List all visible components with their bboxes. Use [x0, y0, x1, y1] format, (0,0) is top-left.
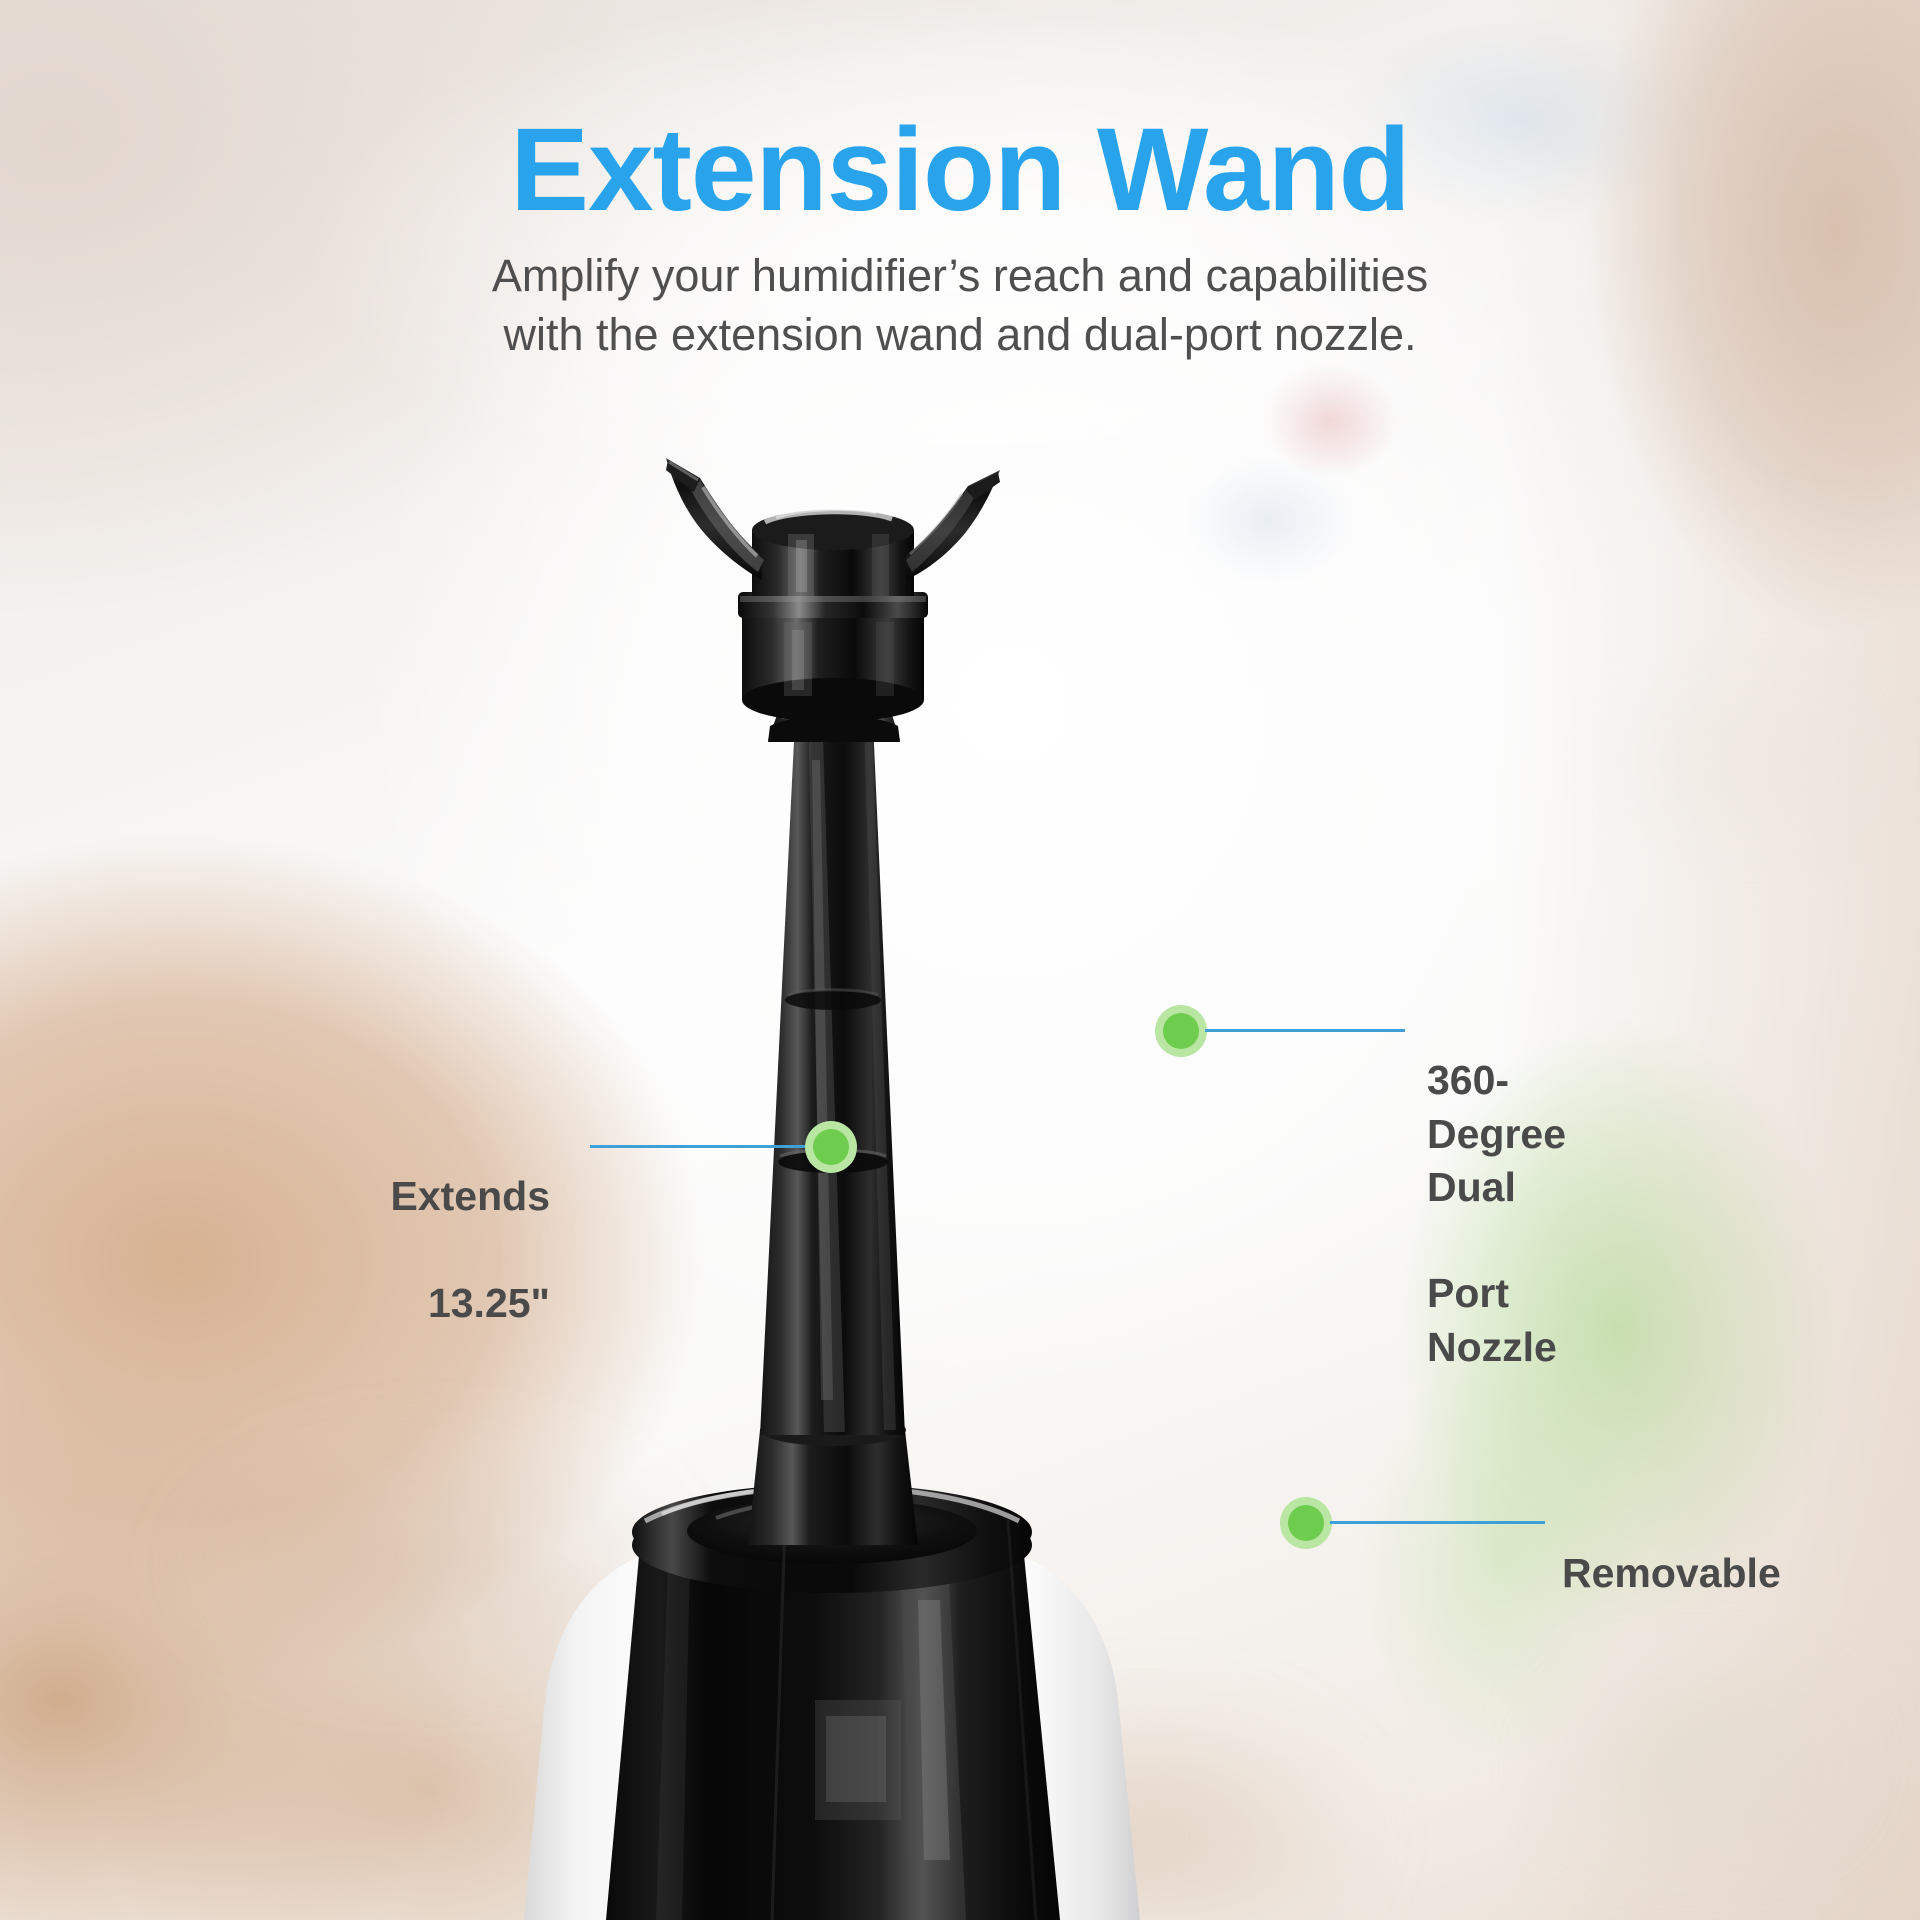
headline-block: Extension Wand Amplify your humidifier’s…: [0, 108, 1920, 364]
callout-dot-dual-port-nozzle[interactable]: [1155, 1005, 1207, 1057]
page-subtitle: Amplify your humidifier’s reach and capa…: [0, 247, 1920, 364]
callout-label-line-1: 360-Degree Dual: [1427, 1057, 1566, 1210]
page-title: Extension Wand: [0, 108, 1920, 233]
callout-label-dual-port-nozzle: 360-Degree Dual Port Nozzle: [1427, 1001, 1566, 1374]
infographic-canvas: Extension Wand Amplify your humidifier’s…: [0, 0, 1920, 1920]
callout-leader-dual-port-nozzle: [1205, 1029, 1405, 1032]
callout-leader-removable: [1330, 1521, 1545, 1524]
callout-dot-extends[interactable]: [805, 1121, 857, 1173]
subtitle-line-2: with the extension wand and dual-port no…: [0, 306, 1920, 365]
subtitle-line-1: Amplify your humidifier’s reach and capa…: [0, 247, 1920, 306]
callout-label-line-2: Port Nozzle: [1427, 1270, 1557, 1369]
callout-leader-extends: [590, 1145, 805, 1148]
callout-label-removable: Removable: [1562, 1494, 1781, 1601]
callout-label-line-1: Extends: [391, 1173, 551, 1219]
callout-label-line-1: Removable: [1562, 1550, 1781, 1596]
callout-label-extends: Extends 13.25": [150, 1117, 550, 1330]
callout-dot-removable[interactable]: [1280, 1497, 1332, 1549]
callout-label-line-2: 13.25": [428, 1280, 550, 1326]
